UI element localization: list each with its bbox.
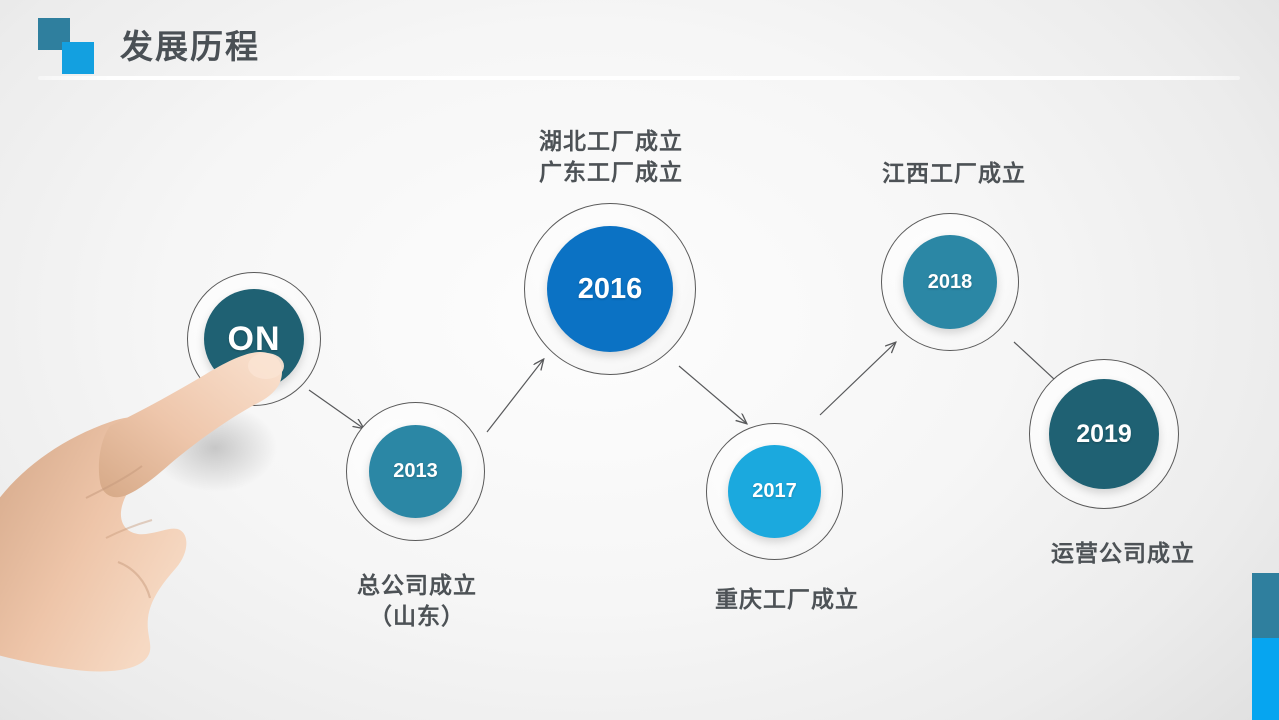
caption-2019-line1: 运营公司成立 xyxy=(1012,538,1234,569)
timeline-node-2013[interactable]: 2013 xyxy=(346,402,485,541)
pointing-hand-icon xyxy=(0,330,310,720)
caption-2013-line1: 总公司成立 xyxy=(306,570,528,601)
caption-2016: 湖北工厂成立 广东工厂成立 xyxy=(500,126,722,187)
slide-canvas: 发展历程 ON 2013 2016 2017 2 xyxy=(0,0,1279,720)
caption-2019: 运营公司成立 xyxy=(1012,538,1234,569)
header-divider xyxy=(38,76,1240,80)
fingertip-highlight xyxy=(248,353,284,379)
timeline-node-2017[interactable]: 2017 xyxy=(706,423,843,560)
caption-2018-line1: 江西工厂成立 xyxy=(848,158,1060,189)
corner-accent-top xyxy=(1252,573,1279,638)
caption-2017-line1: 重庆工厂成立 xyxy=(680,584,894,615)
caption-2013: 总公司成立 （山东） xyxy=(306,570,528,631)
caption-2016-line1: 湖北工厂成立 xyxy=(500,126,722,157)
node-disc-2016[interactable]: 2016 xyxy=(547,226,673,352)
timeline-node-2019[interactable]: 2019 xyxy=(1029,359,1179,509)
node-disc-2017[interactable]: 2017 xyxy=(728,445,821,538)
header-blue-square-icon xyxy=(62,42,94,74)
node-disc-2019[interactable]: 2019 xyxy=(1049,379,1159,489)
caption-2017: 重庆工厂成立 xyxy=(680,584,894,615)
caption-2013-line2: （山东） xyxy=(306,601,528,632)
arrow-2017-to-2018 xyxy=(820,343,895,415)
corner-accent-bar xyxy=(1252,573,1279,720)
page-title: 发展历程 xyxy=(120,20,260,68)
node-disc-2018[interactable]: 2018 xyxy=(903,235,997,329)
caption-2016-line2: 广东工厂成立 xyxy=(500,157,722,188)
caption-2018: 江西工厂成立 xyxy=(848,158,1060,189)
timeline-node-2018[interactable]: 2018 xyxy=(881,213,1019,351)
corner-accent-bottom xyxy=(1252,638,1279,720)
node-disc-2013[interactable]: 2013 xyxy=(369,425,462,518)
timeline-node-2016[interactable]: 2016 xyxy=(524,203,696,375)
